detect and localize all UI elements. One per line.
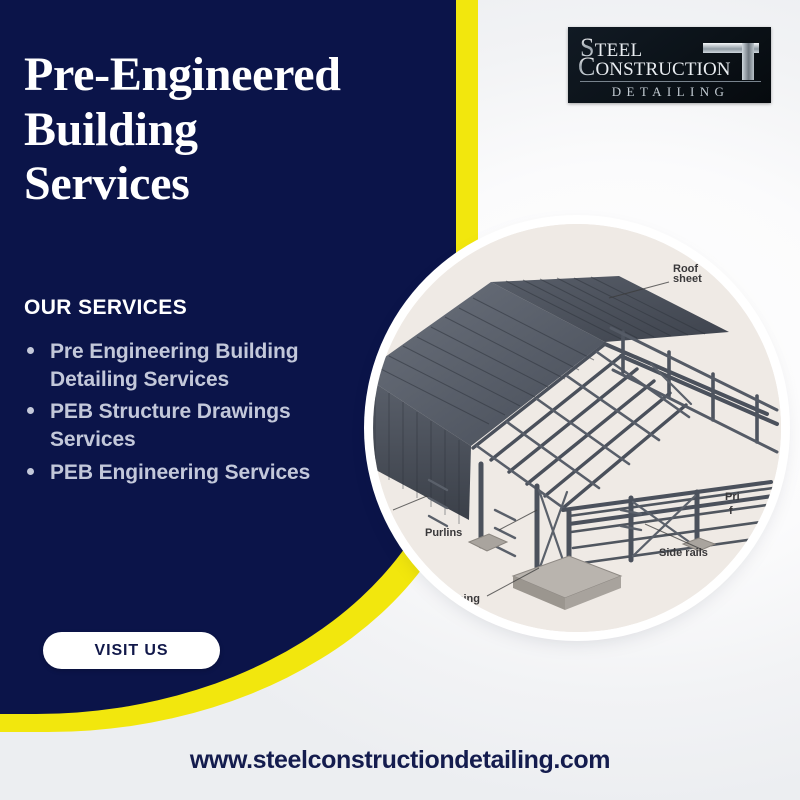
bullet-icon [27, 347, 34, 354]
logo-cap-c: C [578, 52, 595, 81]
diagram-label-side-rails: Side rails [659, 547, 708, 559]
page-title: Pre-Engineered Building Services [24, 48, 434, 212]
logo-divider [580, 81, 761, 82]
footer-website-url[interactable]: www.steelconstructiondetailing.com [0, 746, 800, 775]
logo-wordmark: STEEL CONSTRUCTION [578, 34, 763, 80]
diagram-label-primary: Pri [725, 491, 740, 503]
building-diagram-image: Purlins Bracing Side rails Roof sheet Pr… [373, 224, 781, 632]
bullet-icon [27, 468, 34, 475]
logo-subtitle: DETAILING [578, 85, 763, 98]
headline-line-1: Pre-Engineered [24, 48, 434, 103]
steel-beam-icon [703, 38, 759, 80]
steel-frame-illustration: Purlins Bracing Side rails Roof sheet Pr… [373, 224, 781, 632]
beam-web [742, 43, 754, 80]
services-section: OUR SERVICES Pre Engineering Building De… [24, 296, 364, 492]
list-item-label: PEB Structure Drawings Services [50, 400, 291, 451]
visit-us-button[interactable]: VISIT US [43, 632, 220, 669]
list-item: PEB Engineering Services [24, 459, 364, 487]
visit-us-label: VISIT US [95, 642, 169, 660]
list-item-label: PEB Engineering Services [50, 461, 310, 484]
list-item: Pre Engineering Building Detailing Servi… [24, 338, 364, 393]
services-list: Pre Engineering Building Detailing Servi… [24, 338, 364, 487]
services-heading: OUR SERVICES [24, 296, 364, 320]
list-item-label: Pre Engineering Building Detailing Servi… [50, 340, 298, 391]
headline-line-2: Building [24, 103, 434, 158]
diagram-label-primary2: f [729, 505, 733, 517]
diagram-label-roof2: sheet [673, 273, 702, 285]
headline-line-3: Services [24, 157, 434, 212]
diagram-label-purlins: Purlins [425, 527, 462, 539]
list-item: PEB Structure Drawings Services [24, 398, 364, 453]
bullet-icon [27, 407, 34, 414]
poster-canvas: Pre-Engineered Building Services OUR SER… [0, 0, 800, 800]
brand-logo[interactable]: STEEL CONSTRUCTION DETAILING [568, 27, 771, 103]
